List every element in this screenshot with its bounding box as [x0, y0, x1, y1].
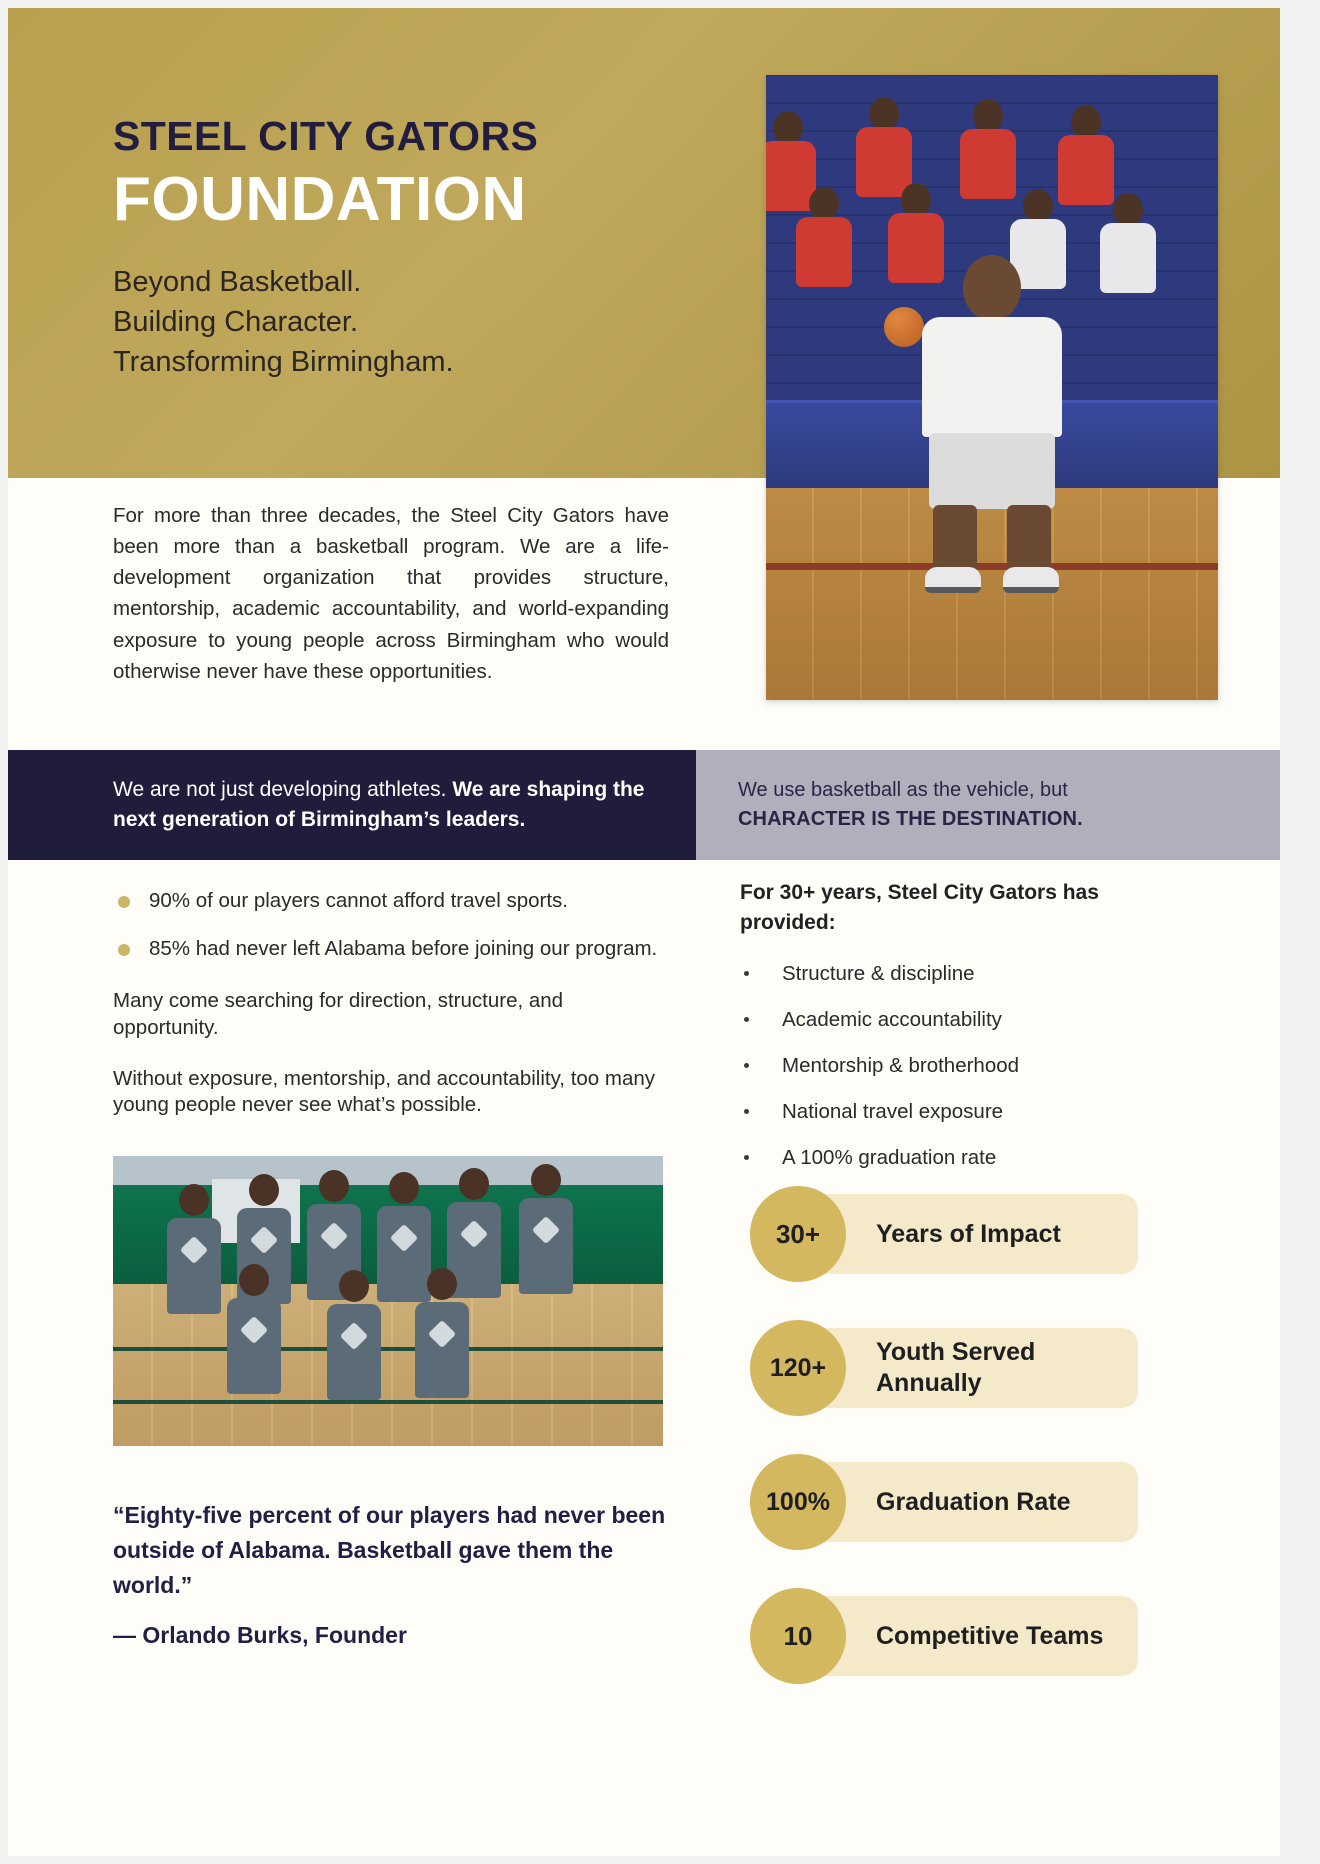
intro-paragraph: For more than three decades, the Steel C…	[113, 500, 669, 687]
mission-banner-dark: We are not just developing athletes. We …	[8, 750, 696, 860]
hero-text-block: STEEL CITY GATORS FOUNDATION Beyond Bask…	[113, 113, 733, 382]
youth-team-photo	[113, 1156, 663, 1446]
stat-bar: Graduation Rate	[798, 1462, 1138, 1542]
founder-quote-block: “Eighty-five percent of our players had …	[113, 1498, 673, 1649]
stat-label: Graduation Rate	[876, 1487, 1070, 1518]
vehicle-text-normal: We use basketball as the vehicle, but	[738, 779, 1068, 801]
list-item: 90% of our players cannot afford travel …	[113, 888, 673, 914]
tagline-line-2: Building Character.	[113, 302, 733, 342]
hero-team-photo	[766, 75, 1218, 700]
bullet-dot-icon	[118, 896, 130, 908]
player-figure	[517, 1164, 575, 1294]
list-item: Mentorship & brotherhood	[740, 1054, 1170, 1078]
list-item: Structure & discipline	[740, 962, 1170, 986]
stat-label: Competitive Teams	[876, 1621, 1103, 1652]
left-content-column: 90% of our players cannot afford travel …	[113, 888, 673, 1143]
list-item-label: Academic accountability	[782, 1008, 1002, 1031]
stat-bar: Youth Served Annually	[798, 1328, 1138, 1408]
stat-card-youth: Youth Served Annually 120+	[750, 1320, 1150, 1416]
impact-stats-list: Years of Impact 30+ Youth Served Annuall…	[750, 1186, 1150, 1722]
bullet-point-icon	[744, 1109, 749, 1114]
provided-heading: For 30+ years, Steel City Gators has pro…	[740, 878, 1170, 938]
coach-figure	[917, 255, 1067, 585]
flyer-page: STEEL CITY GATORS FOUNDATION Beyond Bask…	[8, 8, 1280, 1856]
bullet-point-icon	[744, 1017, 749, 1022]
list-item: National travel exposure	[740, 1100, 1170, 1124]
page-title: FOUNDATION	[113, 166, 733, 234]
list-item: A 100% graduation rate	[740, 1146, 1170, 1170]
list-item-label: Mentorship & brotherhood	[782, 1054, 1019, 1077]
mission-banner-gray: We use basketball as the vehicle, but CH…	[696, 750, 1280, 860]
bullet-point-icon	[744, 971, 749, 976]
stat-card-teams: Competitive Teams 10	[750, 1588, 1150, 1684]
list-item-label: National travel exposure	[782, 1100, 1003, 1123]
player-figure	[225, 1264, 283, 1394]
right-content-column: For 30+ years, Steel City Gators has pro…	[740, 878, 1170, 1192]
left-paragraph-1: Many come searching for direction, struc…	[113, 988, 673, 1041]
bullet-text: 85% had never left Alabama before joinin…	[149, 937, 657, 960]
stat-label: Youth Served Annually	[876, 1337, 1124, 1399]
stat-value-badge: 10	[750, 1588, 846, 1684]
bullet-point-icon	[744, 1155, 749, 1160]
left-paragraph-2: Without exposure, mentorship, and accoun…	[113, 1066, 673, 1119]
stat-bar: Years of Impact	[798, 1194, 1138, 1274]
list-item-label: A 100% graduation rate	[782, 1146, 996, 1169]
stat-value-badge: 120+	[750, 1320, 846, 1416]
challenge-bullet-list: 90% of our players cannot afford travel …	[113, 888, 673, 962]
bullet-point-icon	[744, 1063, 749, 1068]
bullet-dot-icon	[118, 944, 130, 956]
provided-list: Structure & discipline Academic accounta…	[740, 962, 1170, 1170]
quote-text: “Eighty-five percent of our players had …	[113, 1498, 673, 1604]
player-figure	[325, 1270, 383, 1400]
list-item: Academic accountability	[740, 1008, 1170, 1032]
tagline-line-3: Transforming Birmingham.	[113, 342, 733, 382]
stat-value-badge: 30+	[750, 1186, 846, 1282]
mission-banner-row: We are not just developing athletes. We …	[8, 750, 1280, 860]
vehicle-text-bold: CHARACTER IS THE DESTINATION.	[738, 808, 1083, 830]
list-item: 85% had never left Alabama before joinin…	[113, 936, 673, 962]
court-line	[113, 1400, 663, 1404]
bullet-text: 90% of our players cannot afford travel …	[149, 889, 568, 912]
player-figure	[165, 1184, 223, 1314]
stat-card-years: Years of Impact 30+	[750, 1186, 1150, 1282]
tagline-line-1: Beyond Basketball.	[113, 262, 733, 302]
stat-bar: Competitive Teams	[798, 1596, 1138, 1676]
player-figure	[413, 1268, 471, 1398]
court-line	[113, 1347, 663, 1351]
org-name: STEEL CITY GATORS	[113, 113, 733, 160]
quote-attribution: — Orlando Burks, Founder	[113, 1622, 673, 1649]
stat-value-badge: 100%	[750, 1454, 846, 1550]
hero-tagline: Beyond Basketball. Building Character. T…	[113, 262, 733, 382]
mission-text-normal: We are not just developing athletes.	[113, 778, 452, 801]
stat-card-graduation: Graduation Rate 100%	[750, 1454, 1150, 1550]
list-item-label: Structure & discipline	[782, 962, 975, 985]
stat-label: Years of Impact	[876, 1219, 1061, 1250]
